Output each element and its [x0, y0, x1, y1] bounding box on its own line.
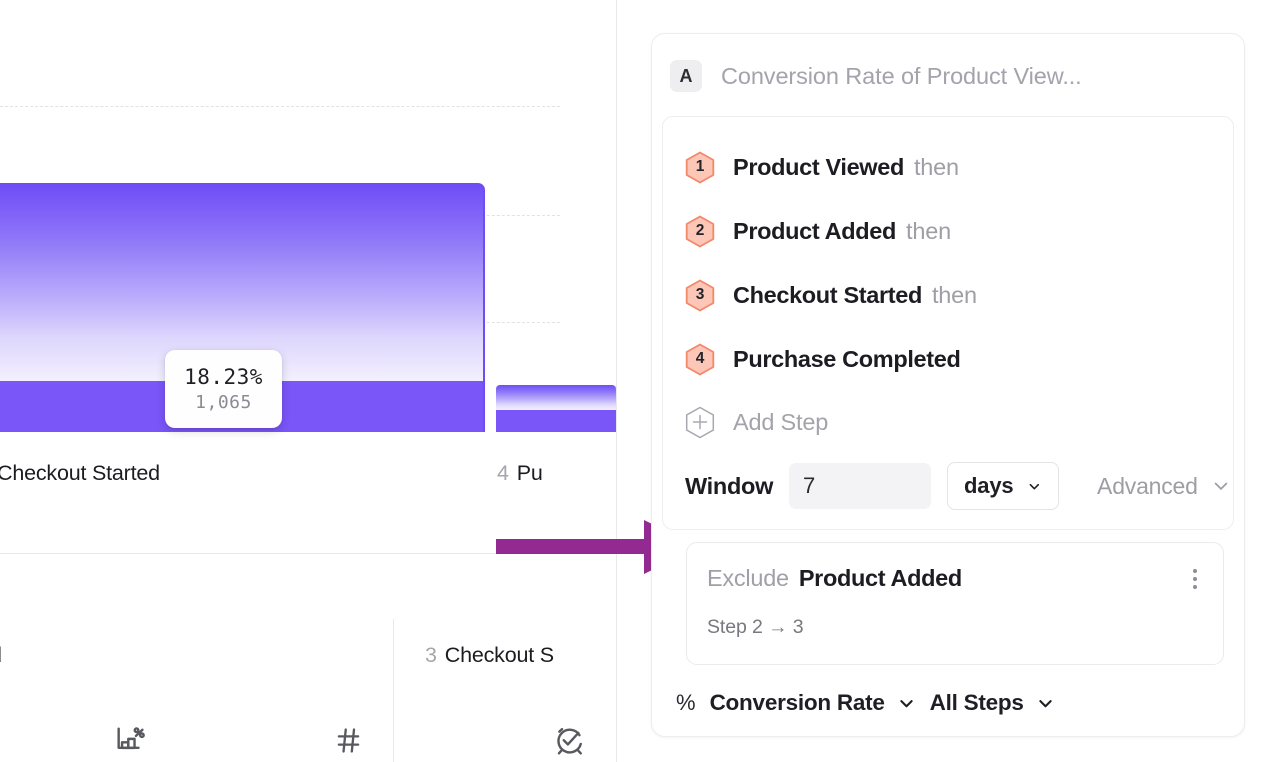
chevron-down-icon	[897, 694, 916, 713]
advanced-toggle[interactable]: Advanced	[1097, 473, 1231, 500]
step-number-badge-2: 2	[685, 215, 715, 248]
exclude-overflow-menu-icon[interactable]	[1183, 565, 1207, 593]
step-name-4: Purchase Completed	[733, 346, 960, 372]
x-axis-label-3: Checkout Started	[0, 461, 160, 486]
metric-type-label: Conversion Rate	[710, 690, 885, 716]
metric-card-label-2-text: d	[0, 643, 2, 667]
step-connector-1: then	[914, 154, 959, 180]
step-label-row-1: Product Viewedthen	[733, 154, 959, 181]
exclude-prefix-label: Exclude	[707, 565, 789, 592]
chevron-down-icon	[1036, 694, 1055, 713]
step-number-1: 1	[685, 151, 715, 184]
gridline	[0, 106, 560, 107]
section-divider	[0, 553, 617, 554]
funnel-step-3[interactable]: 3 Checkout Startedthen	[663, 263, 1233, 327]
tooltip-count: 1,065	[195, 392, 252, 413]
dot	[1193, 585, 1197, 589]
chevron-down-icon	[1027, 477, 1042, 496]
check-circle-icon[interactable]	[547, 718, 591, 762]
x-axis-index-4: 4	[497, 461, 509, 485]
step-label-row-4: Purchase Completed	[733, 346, 970, 373]
exclude-step-range: Step 2 → 3	[707, 616, 1203, 639]
add-step-hex-plus-icon	[685, 406, 715, 439]
step-name-1: Product Viewed	[733, 154, 904, 180]
step-connector-3: then	[932, 282, 977, 308]
step-number-4: 4	[685, 343, 715, 376]
panel-footer: % Conversion Rate All Steps	[652, 690, 1055, 716]
x-axis-label-4-text: Pu	[517, 461, 543, 485]
x-axis-label-3-text: Checkout Started	[0, 461, 160, 485]
step-scope-label: All Steps	[930, 690, 1024, 716]
dot	[1193, 569, 1197, 573]
add-step-label: Add Step	[733, 409, 828, 436]
add-step-button[interactable]: Add Step	[663, 391, 1233, 453]
app-root: Checkout Started 4Pu 18.23% 1,065 d 3Che…	[0, 0, 1264, 762]
dot	[1193, 577, 1197, 581]
chevron-down-icon	[1211, 476, 1231, 496]
step-scope-select[interactable]: All Steps	[930, 690, 1055, 716]
funnel-chart-pane: Checkout Started 4Pu 18.23% 1,065 d 3Che…	[0, 0, 617, 762]
chart-tooltip: 18.23% 1,065	[165, 350, 282, 428]
panel-header: A Conversion Rate of Product View...	[652, 34, 1244, 116]
step-label-row-3: Checkout Startedthen	[733, 282, 977, 309]
step-number-badge-4: 4	[685, 343, 715, 376]
percent-bar-chart-icon[interactable]	[108, 718, 152, 762]
x-axis-label-4: 4Pu	[497, 461, 543, 486]
pane-divider	[616, 0, 617, 762]
window-value-input[interactable]	[789, 463, 931, 509]
bar-solid-base	[496, 410, 616, 432]
step-label-row-2: Product Addedthen	[733, 218, 951, 245]
step-connector-2: then	[906, 218, 951, 244]
step-name-2: Product Added	[733, 218, 896, 244]
tooltip-percent: 18.23%	[184, 365, 263, 389]
bar-gradient-body	[496, 385, 616, 410]
window-unit-select[interactable]: days	[947, 462, 1059, 510]
hash-icon[interactable]	[326, 718, 370, 762]
metric-card-index-3: 3	[425, 643, 437, 667]
metric-card-label-3-text: Checkout S	[445, 643, 554, 667]
percent-icon: %	[676, 690, 696, 716]
step-number-badge-1: 1	[685, 151, 715, 184]
metric-type-select[interactable]: Conversion Rate	[710, 690, 916, 716]
funnel-step-4[interactable]: 4 Purchase Completed	[663, 327, 1233, 391]
query-letter-badge[interactable]: A	[670, 60, 702, 92]
step-number-3: 3	[685, 279, 715, 312]
metric-card-label-3: 3Checkout S	[425, 643, 554, 668]
exclude-event-name: Product Added	[799, 565, 962, 592]
metric-card-divider	[393, 619, 394, 762]
conversion-window-row: Window days Advanced	[663, 453, 1233, 515]
step-number-badge-3: 3	[685, 279, 715, 312]
funnel-steps-card: 1 Product Viewedthen 2 Product Addedthen	[662, 116, 1234, 530]
advanced-label: Advanced	[1097, 473, 1198, 500]
funnel-bar-purchase-completed[interactable]	[496, 385, 616, 432]
step-name-3: Checkout Started	[733, 282, 922, 308]
funnel-query-panel: A Conversion Rate of Product View... 1 P…	[651, 33, 1245, 737]
metric-card-label-2: d	[0, 643, 2, 668]
funnel-step-1[interactable]: 1 Product Viewedthen	[663, 135, 1233, 199]
exclude-title-row: Exclude Product Added	[707, 565, 1203, 592]
funnel-step-2[interactable]: 2 Product Addedthen	[663, 199, 1233, 263]
exclude-rule-card[interactable]: Exclude Product Added Step 2 → 3	[686, 542, 1224, 665]
window-unit-label: days	[964, 473, 1013, 499]
window-label: Window	[685, 473, 773, 500]
step-number-2: 2	[685, 215, 715, 248]
funnel-title[interactable]: Conversion Rate of Product View...	[721, 63, 1082, 90]
